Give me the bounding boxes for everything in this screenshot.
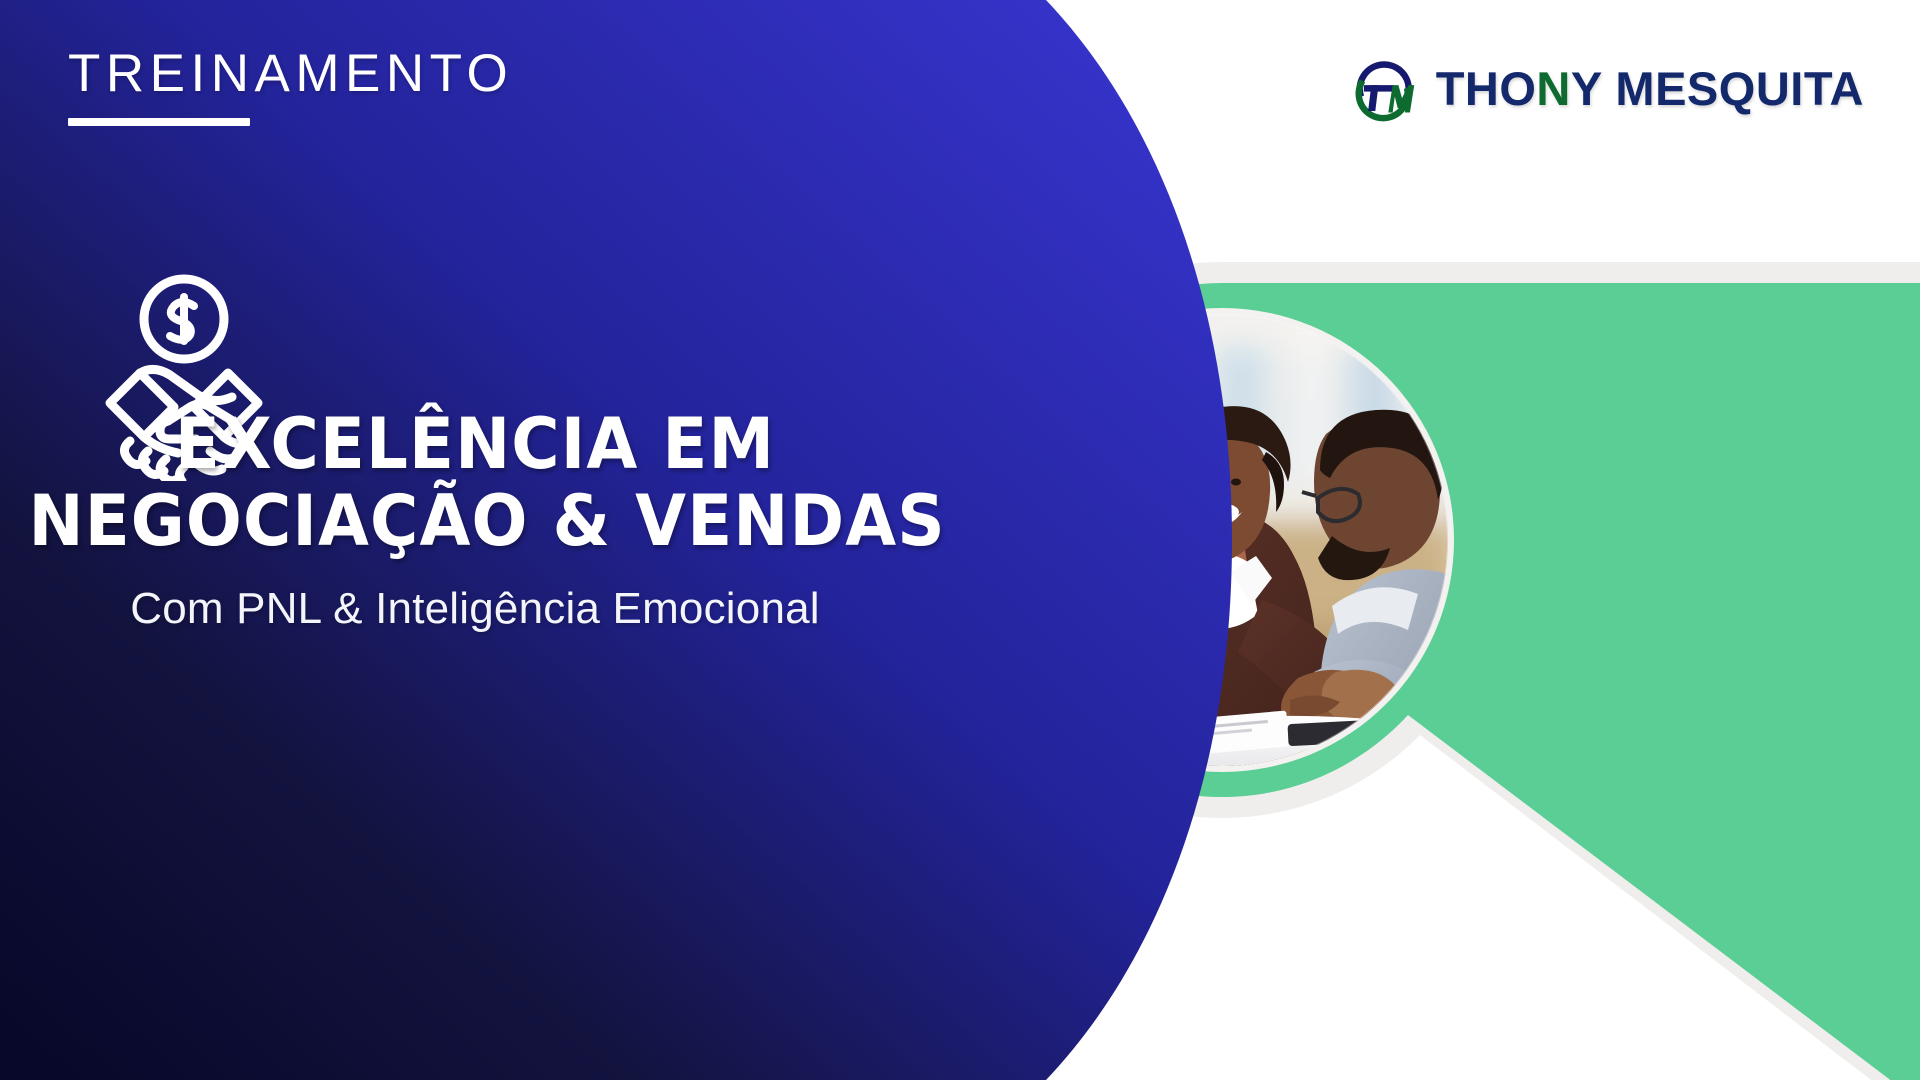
headline-line-2: NEGOCIAÇÃO & VENDAS (29, 481, 922, 562)
promo-banner: TREINAMENTO THONY MESQUITA (0, 0, 1920, 1080)
subheadline: Com PNL & Inteligência Emocional (0, 584, 950, 634)
headline-line-1: EXCELÊNCIA EM (29, 404, 922, 485)
brand-wordmark-part2: Y MESQUITA (1571, 62, 1864, 115)
eyebrow-underline (68, 118, 250, 126)
brand-wordmark-accent: N (1536, 62, 1570, 115)
brand-wordmark: THONY MESQUITA (1436, 65, 1864, 112)
headline-group: EXCELÊNCIA EM NEGOCIAÇÃO & VENDAS Com PN… (0, 404, 950, 634)
tm-monogram-icon (1348, 52, 1420, 124)
eyebrow-label: TREINAMENTO (68, 47, 513, 100)
brand-logo[interactable]: THONY MESQUITA (1348, 52, 1864, 124)
brand-wordmark-part1: THO (1436, 62, 1537, 115)
content-layer: TREINAMENTO THONY MESQUITA (0, 0, 1920, 1080)
eyebrow-group: TREINAMENTO (68, 47, 513, 126)
